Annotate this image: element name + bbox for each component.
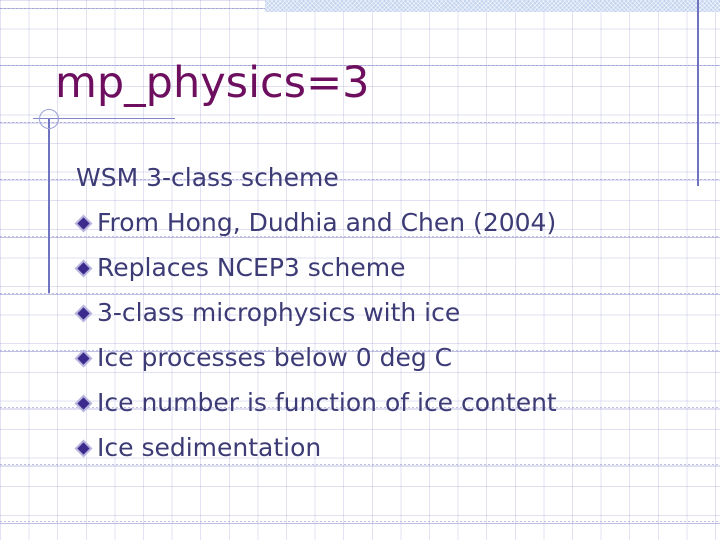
right-vertical-rule [697,0,699,186]
left-vertical-rule [48,118,50,293]
list-item-label: WSM 3-class scheme [76,162,339,194]
diamond-bullet-icon [74,439,93,458]
list-item-label: From Hong, Dudhia and Chen (2004) [97,207,556,239]
diamond-bullet-icon [74,259,93,278]
list-item-label: Ice sedimentation [97,432,321,464]
diamond-bullet-icon [74,394,93,413]
list-item: Ice sedimentation [74,425,694,470]
list-item: WSM 3-class scheme [74,155,694,200]
slide-body-list: WSM 3-class scheme From Hong, Dudhia and… [74,155,694,470]
list-item: 3-class microphysics with ice [74,290,694,335]
list-item: Ice processes below 0 deg C [74,335,694,380]
diamond-bullet-icon [74,304,93,323]
list-item-label: Ice number is function of ice content [97,387,557,419]
list-item-label: Ice processes below 0 deg C [97,342,452,374]
list-item: Replaces NCEP3 scheme [74,245,694,290]
presentation-slide: mp_physics=3 WSM 3-class scheme From Hon… [0,0,720,540]
slide-title: mp_physics=3 [55,57,369,109]
circle-marker-icon [39,109,59,129]
diamond-bullet-icon [74,349,93,368]
list-item: From Hong, Dudhia and Chen (2004) [74,200,694,245]
list-item-label: 3-class microphysics with ice [97,297,460,329]
list-item-label: Replaces NCEP3 scheme [97,252,405,284]
diamond-bullet-icon [74,214,93,233]
top-banner-decoration [265,0,720,12]
list-item: Ice number is function of ice content [74,380,694,425]
